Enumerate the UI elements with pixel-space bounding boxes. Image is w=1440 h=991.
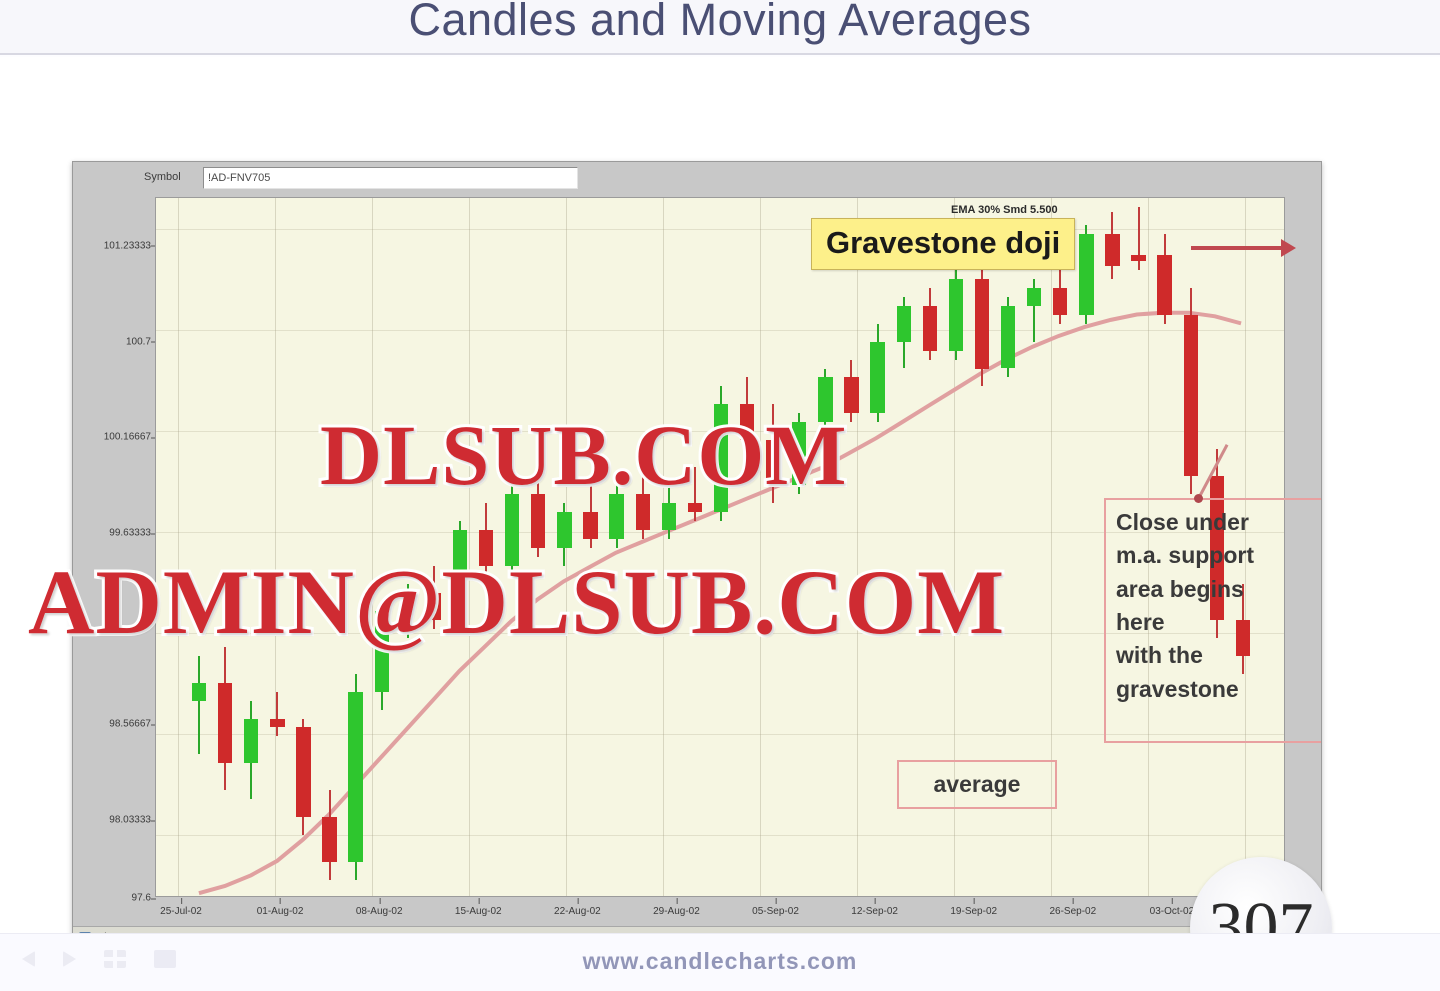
y-axis-tick: 98.56667 bbox=[109, 719, 151, 730]
symbol-label: Symbol bbox=[144, 171, 181, 183]
candle-body bbox=[244, 719, 258, 764]
candle-body bbox=[1079, 234, 1093, 315]
watermark-site: DLSUB.COM bbox=[320, 405, 847, 505]
candle-body bbox=[923, 306, 937, 351]
candle-body bbox=[270, 719, 284, 728]
candle-body bbox=[1184, 315, 1198, 477]
x-axis-tick: 26-Sep-02 bbox=[1049, 906, 1096, 917]
ma-support-line-3: area begins bbox=[1116, 573, 1322, 606]
chart-plot-area[interactable]: EMA 30% Smd 5.500 Gravestone doji averag… bbox=[155, 197, 1285, 897]
x-axis-tick: 15-Aug-02 bbox=[455, 906, 502, 917]
y-axis-tick: 101.23333 bbox=[104, 240, 151, 251]
candlestick bbox=[975, 252, 989, 387]
x-axis-tick: 05-Sep-02 bbox=[752, 906, 799, 917]
candle-body bbox=[557, 512, 571, 548]
candlestick bbox=[1001, 297, 1015, 378]
x-axis-tick: 22-Aug-02 bbox=[554, 906, 601, 917]
ma-support-line-2: m.a. support bbox=[1116, 539, 1322, 572]
candlestick bbox=[1079, 225, 1093, 324]
watermark-email: ADMIN@DLSUB.COM bbox=[28, 549, 1005, 655]
candlestick bbox=[1053, 261, 1067, 324]
candle-wick bbox=[198, 656, 200, 755]
candlestick bbox=[1105, 212, 1119, 278]
candle-body bbox=[1053, 288, 1067, 315]
gravestone-arrow-line bbox=[1191, 246, 1283, 250]
y-axis-tick: 100.7 bbox=[126, 336, 151, 347]
ma-support-pointer-dot bbox=[1194, 494, 1203, 503]
ma-support-line-6: gravestone bbox=[1116, 673, 1322, 706]
ma-support-line-5: with the bbox=[1116, 639, 1322, 672]
ma-support-line-1: Close under bbox=[1116, 506, 1322, 539]
y-axis-tick: 99.63333 bbox=[109, 528, 151, 539]
x-axis-tick: 25-Jul-02 bbox=[160, 906, 202, 917]
candle-body bbox=[949, 279, 963, 351]
candlestick bbox=[1184, 288, 1198, 494]
candle-body bbox=[192, 683, 206, 701]
x-axis-tick: 29-Aug-02 bbox=[653, 906, 700, 917]
page-title: Candles and Moving Averages bbox=[0, 0, 1440, 46]
candlestick bbox=[923, 288, 937, 360]
candle-body bbox=[218, 683, 232, 764]
indicator-legend: EMA 30% Smd 5.500 bbox=[951, 204, 1058, 216]
candlestick bbox=[870, 324, 884, 423]
y-axis-tick: 97.6 bbox=[132, 893, 151, 904]
x-axis-tick: 19-Sep-02 bbox=[950, 906, 997, 917]
candle-body bbox=[1105, 234, 1119, 266]
ma-support-line-4: here bbox=[1116, 606, 1322, 639]
candle-body bbox=[870, 342, 884, 414]
ma-support-callout: Close under m.a. support area begins her… bbox=[1104, 498, 1322, 743]
candle-wick bbox=[276, 692, 278, 737]
x-axis-tick: 01-Aug-02 bbox=[257, 906, 304, 917]
y-axis-tick: 100.16667 bbox=[104, 432, 151, 443]
candlestick bbox=[270, 692, 284, 737]
candlestick bbox=[1157, 234, 1171, 324]
candlestick bbox=[192, 656, 206, 755]
y-axis: 101.23333100.7100.1666799.6333398.566679… bbox=[73, 197, 155, 897]
slide-body: Symbol 101.23333100.7100.1666799.6333398… bbox=[0, 57, 1440, 933]
candlestick bbox=[296, 719, 310, 836]
slide-footer: www.candlecharts.com bbox=[0, 933, 1440, 991]
candle-body bbox=[296, 727, 310, 817]
symbol-toolbar: Symbol bbox=[73, 162, 1322, 196]
candle-body bbox=[975, 279, 989, 369]
y-axis-tick: 98.03333 bbox=[109, 815, 151, 826]
candle-body bbox=[322, 817, 336, 862]
candle-body bbox=[1027, 288, 1041, 306]
candlestick bbox=[1131, 207, 1145, 270]
candlestick bbox=[322, 790, 336, 880]
candle-body bbox=[348, 692, 362, 863]
slide-header: Candles and Moving Averages bbox=[0, 0, 1440, 55]
gravestone-arrow-head bbox=[1281, 239, 1296, 257]
candlestick bbox=[897, 297, 911, 369]
x-axis: 25-Jul-0201-Aug-0208-Aug-0215-Aug-0222-A… bbox=[155, 898, 1285, 928]
candlestick bbox=[1027, 279, 1041, 342]
symbol-input[interactable] bbox=[203, 167, 578, 189]
average-callout: average bbox=[897, 760, 1057, 809]
candlestick bbox=[949, 270, 963, 360]
footer-url: www.candlecharts.com bbox=[0, 948, 1440, 975]
x-axis-tick: 12-Sep-02 bbox=[851, 906, 898, 917]
candlestick bbox=[218, 647, 232, 791]
gravestone-doji-callout: Gravestone doji bbox=[811, 218, 1075, 270]
gravestone-doji-candle bbox=[1131, 255, 1145, 260]
candle-body bbox=[897, 306, 911, 342]
candle-body bbox=[583, 512, 597, 539]
candle-body bbox=[1157, 255, 1171, 314]
candle-body bbox=[1001, 306, 1015, 369]
slide-stage: Candles and Moving Averages Symbol 101.2… bbox=[0, 0, 1440, 991]
x-axis-tick: 03-Oct-02 bbox=[1150, 906, 1194, 917]
x-axis-tick: 08-Aug-02 bbox=[356, 906, 403, 917]
candle-body bbox=[662, 503, 676, 530]
candlestick bbox=[244, 701, 258, 800]
candlestick bbox=[348, 674, 362, 880]
